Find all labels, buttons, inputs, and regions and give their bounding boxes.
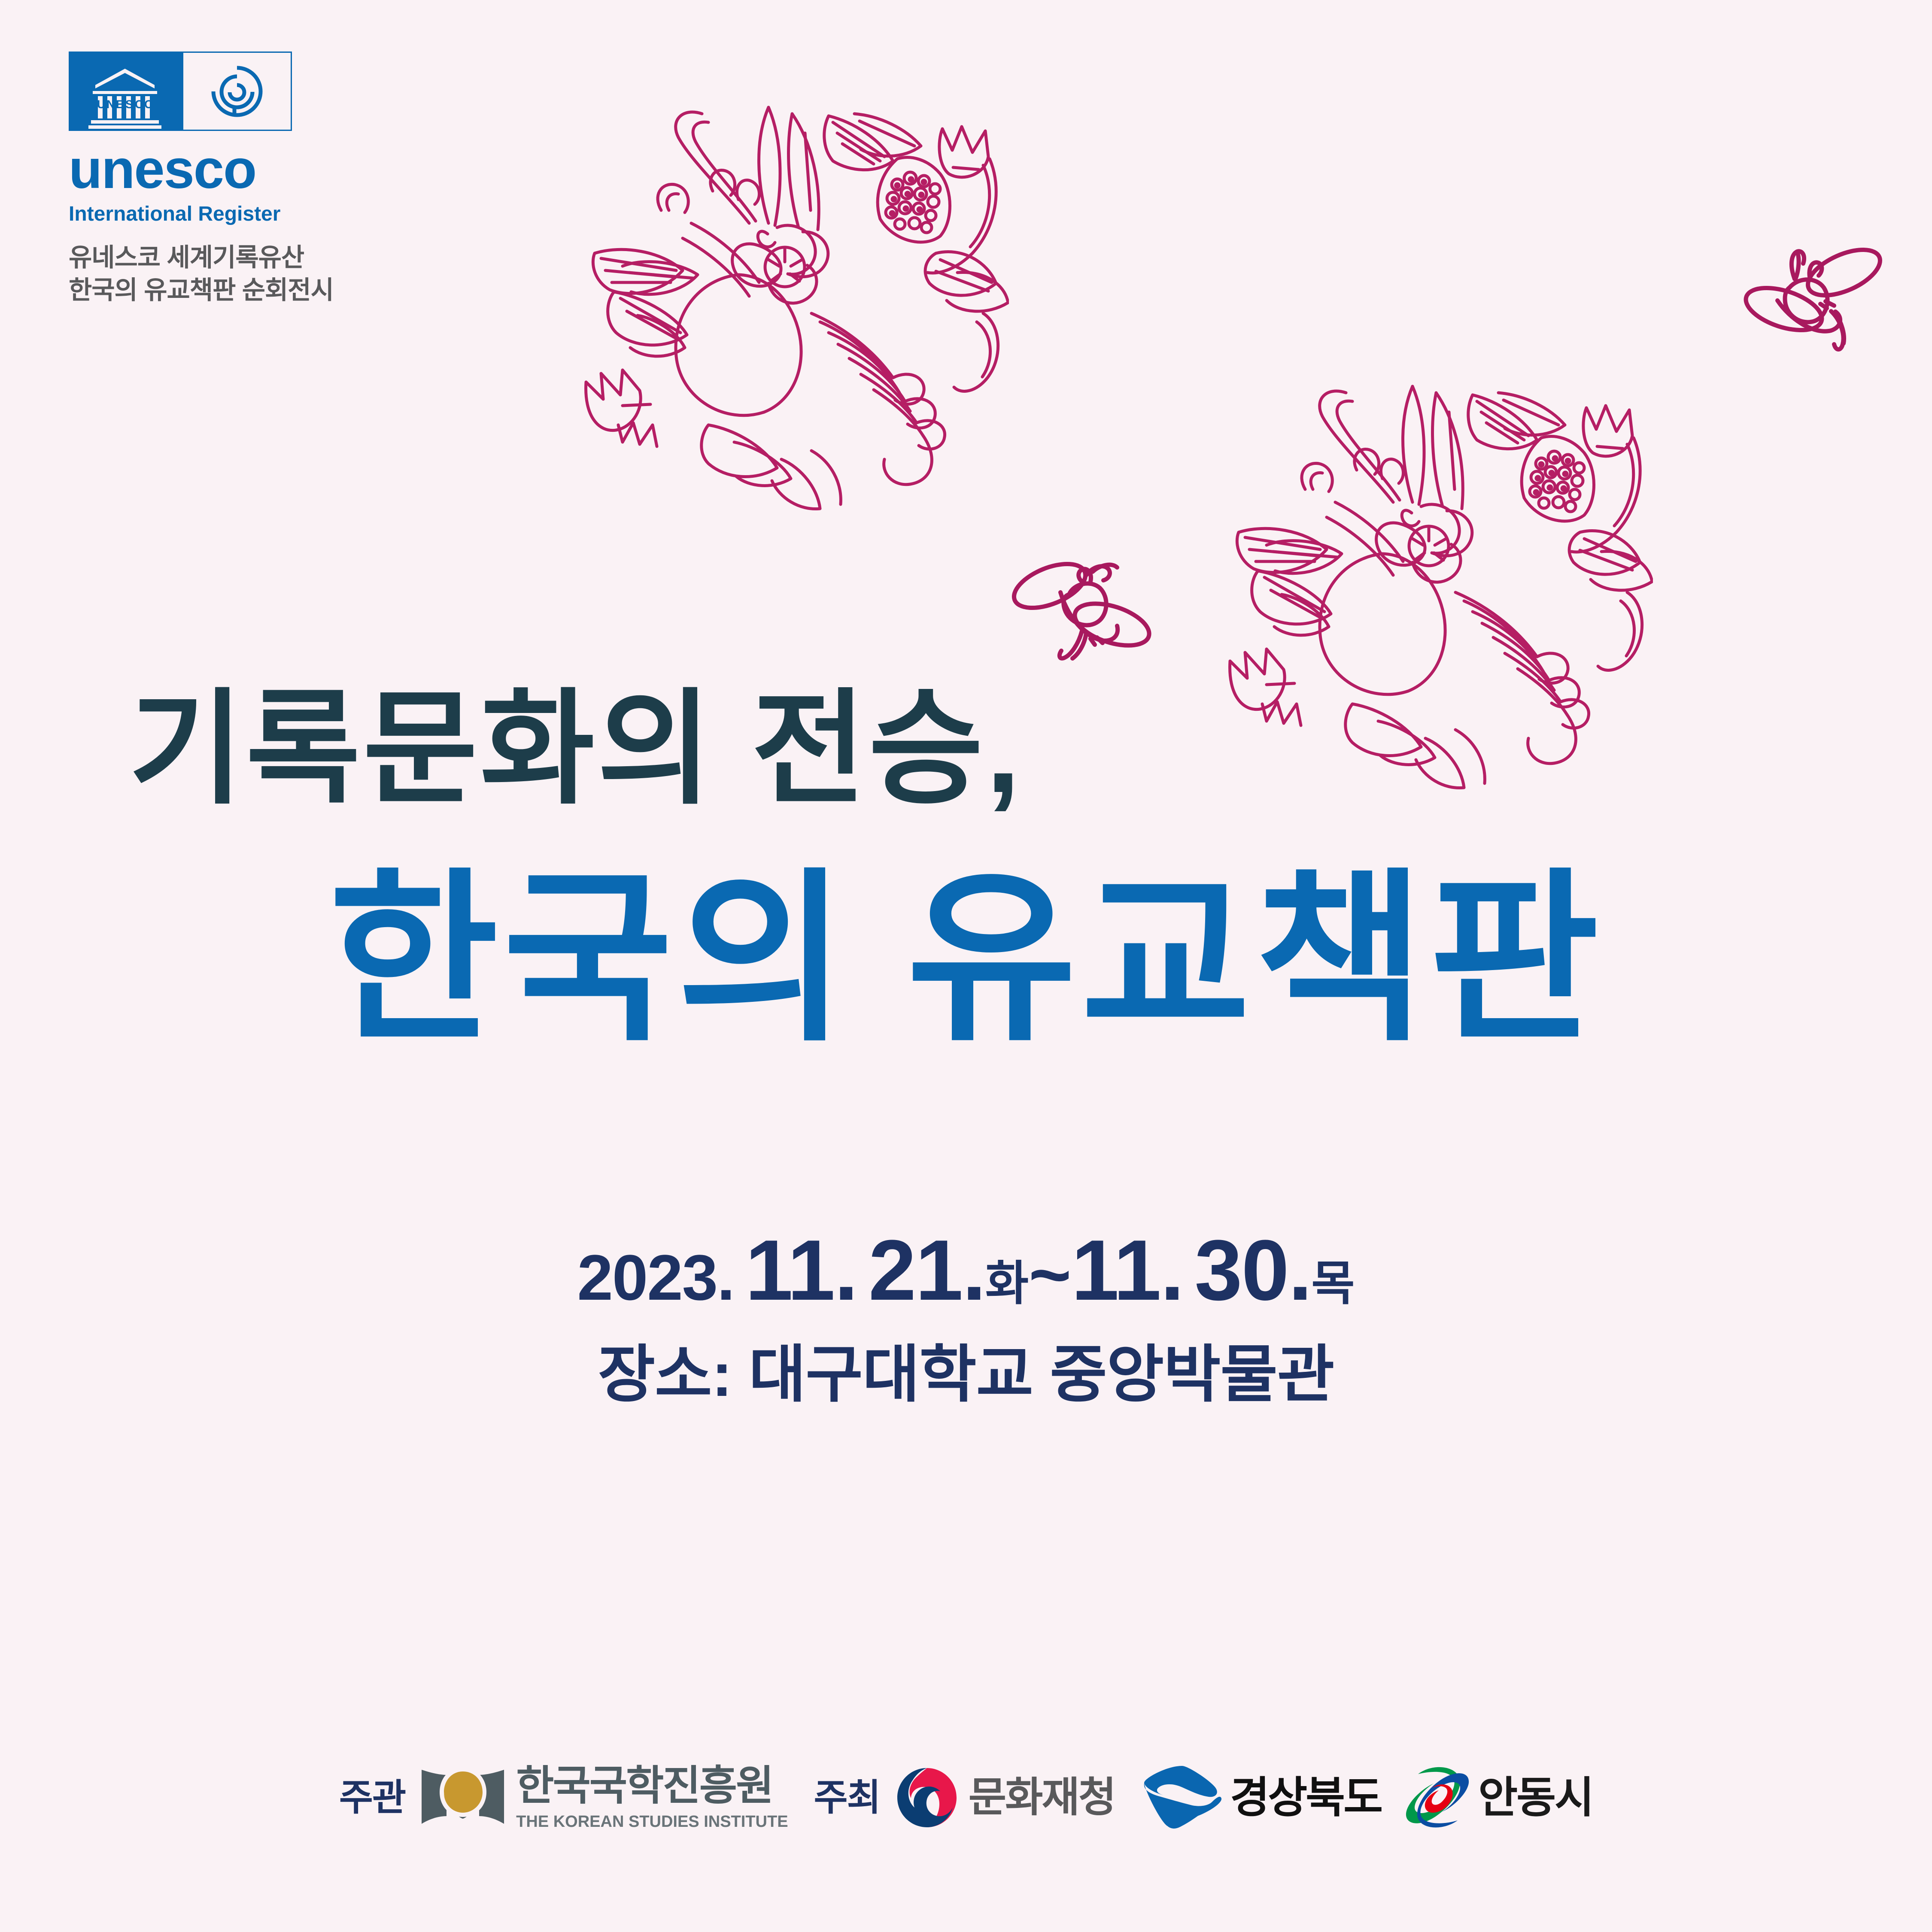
ksi-book-icon [420,1765,506,1830]
bee-motif-icon [1005,545,1185,682]
unesco-korean-line-1: 유네스코 세계기록유산 [69,242,498,274]
svg-text:C: C [135,98,143,111]
andong-city-logo: 안동시 [1405,1765,1593,1830]
ksi-logo: 한국국학진흥원 THE KOREAN STUDIES INSTITUTE [420,1765,788,1830]
date-start-month: 11. [745,1222,857,1318]
gyeongbuk-wave-icon [1141,1764,1222,1831]
unesco-logo-block: UNE SCO unesco International Register 유네… [69,52,498,306]
page-title: 한국의 유교책판 [0,867,1932,1052]
date-year: 2023. [577,1241,734,1313]
unesco-wordmark: unesco [69,142,498,197]
cultural-heritage-administration-logo: 문화재청 [895,1765,1115,1830]
unesco-korean-subtitle: 유네스코 세계기록유산 한국의 유교책판 순회전시 [69,242,498,306]
exhibition-venue: 장소: 대구대학교 중앙박물관 [0,1344,1932,1406]
date-start-day: 21. [869,1222,985,1318]
svg-text:O: O [144,98,153,111]
exhibition-date: 2023.11.21.화~11.30.목 [0,1228,1932,1313]
unesco-korean-line-2: 한국의 유교책판 순회전시 [69,274,498,307]
gyeongbuk-name-label: 경상북도 [1230,1776,1381,1819]
andong-name-label: 안동시 [1478,1776,1593,1819]
korea-government-taegeuk-icon [895,1765,959,1830]
gyeongsangbuk-do-logo: 경상북도 [1141,1764,1381,1831]
date-end-month: 11. [1071,1222,1183,1318]
bee-motif-icon [1735,232,1932,369]
flower-motif-icon [554,82,1009,515]
ksi-name-label: 한국국학진흥원 [516,1765,788,1807]
svg-text:N: N [106,98,115,111]
ksi-english-label: THE KOREAN STUDIES INSTITUTE [516,1814,788,1830]
host-label: 주최 [814,1779,880,1816]
svg-text:U: U [97,98,106,111]
poster-canvas: UNE SCO unesco International Register 유네… [0,0,1932,1932]
poster-subtitle: 기록문화의 전승, [129,687,1803,811]
unesco-register-label: International Register [69,204,498,224]
footer-sponsors: 주관 한국국학진흥원 THE KOREAN STUDIES INSTITUTE … [0,1764,1932,1831]
cha-name-label: 문화재청 [969,1777,1115,1818]
date-start-weekday: 화 [985,1257,1029,1310]
svg-text:E: E [116,98,124,111]
unesco-emblem-icon: UNE SCO [69,52,292,131]
svg-text:S: S [125,98,133,111]
date-end-weekday: 목 [1311,1257,1355,1310]
date-end-day: 30. [1194,1222,1311,1318]
organizer-label: 주관 [339,1779,405,1816]
date-separator: ~ [1029,1234,1071,1316]
andong-swirl-icon [1405,1765,1470,1830]
